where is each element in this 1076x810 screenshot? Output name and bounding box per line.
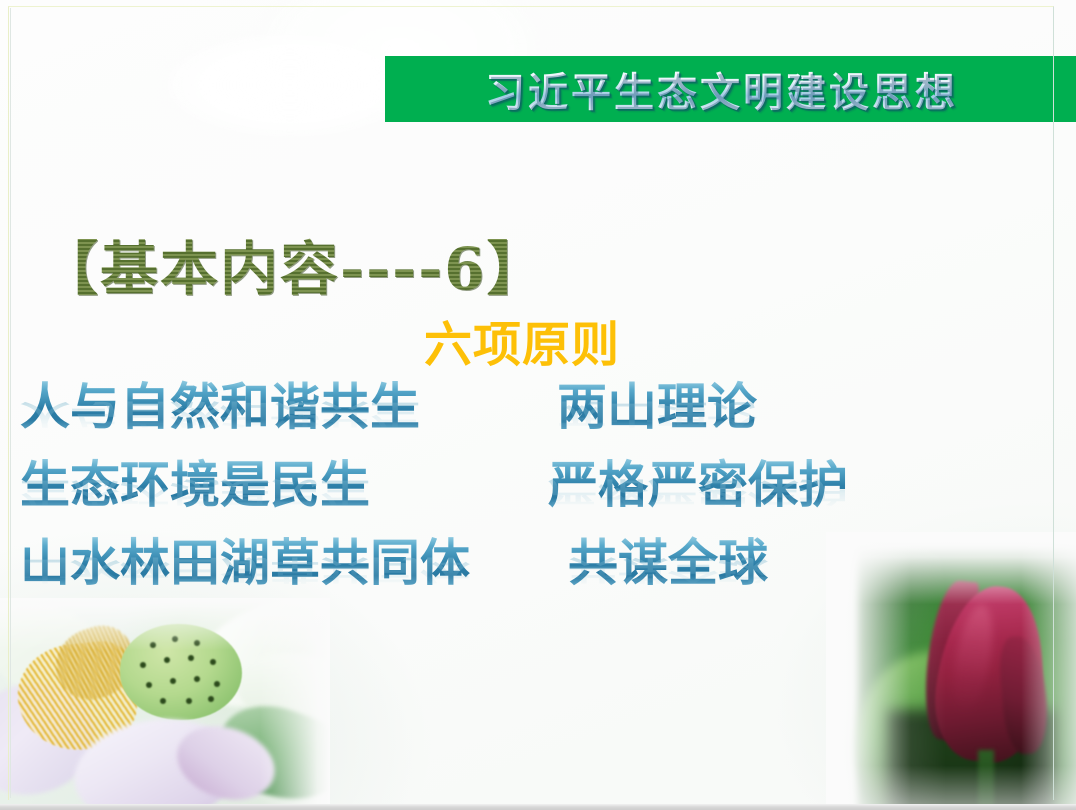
header-banner: 习近平生态文明建设思想: [385, 56, 1076, 122]
principle-right-3: 共谋全球: [568, 534, 768, 592]
header-title: 习近平生态文明建设思想: [485, 60, 976, 118]
principle-row: 人与自然和谐共生 人与自然和谐共生 两山理论 两山理论: [12, 378, 1052, 456]
principle-right-1: 两山理论: [557, 378, 757, 436]
principle-right-2: 严格严密保护: [548, 456, 848, 514]
principle-row: 生态环境是民生 生态环境是民生 严格严密保护 严格严密保护: [12, 456, 1052, 534]
principle-left-3: 山水林田湖草共同体: [20, 534, 470, 592]
lotus-photo-content: [0, 598, 330, 810]
lotus-flower-photo: [0, 598, 330, 810]
principle-left-1: 人与自然和谐共生: [20, 378, 420, 436]
section-title: 【基本内容----6】: [40, 222, 547, 306]
slide-canvas: 习近平生态文明建设思想 【基本内容----6】 六项原则 人与自然和谐共生 人与…: [0, 0, 1076, 810]
subtitle: 六项原则: [424, 305, 620, 375]
bottom-edge-band: [0, 804, 1076, 810]
principle-list: 人与自然和谐共生 人与自然和谐共生 两山理论 两山理论 生态环境是民生 生态环境…: [12, 378, 1052, 612]
cloud-shape-secondary: [160, 30, 420, 140]
principle-left-2: 生态环境是民生: [20, 456, 370, 514]
principle-row: 山水林田湖草共同体 山水林田湖草共同体 共谋全球 共谋全球: [12, 534, 1052, 612]
